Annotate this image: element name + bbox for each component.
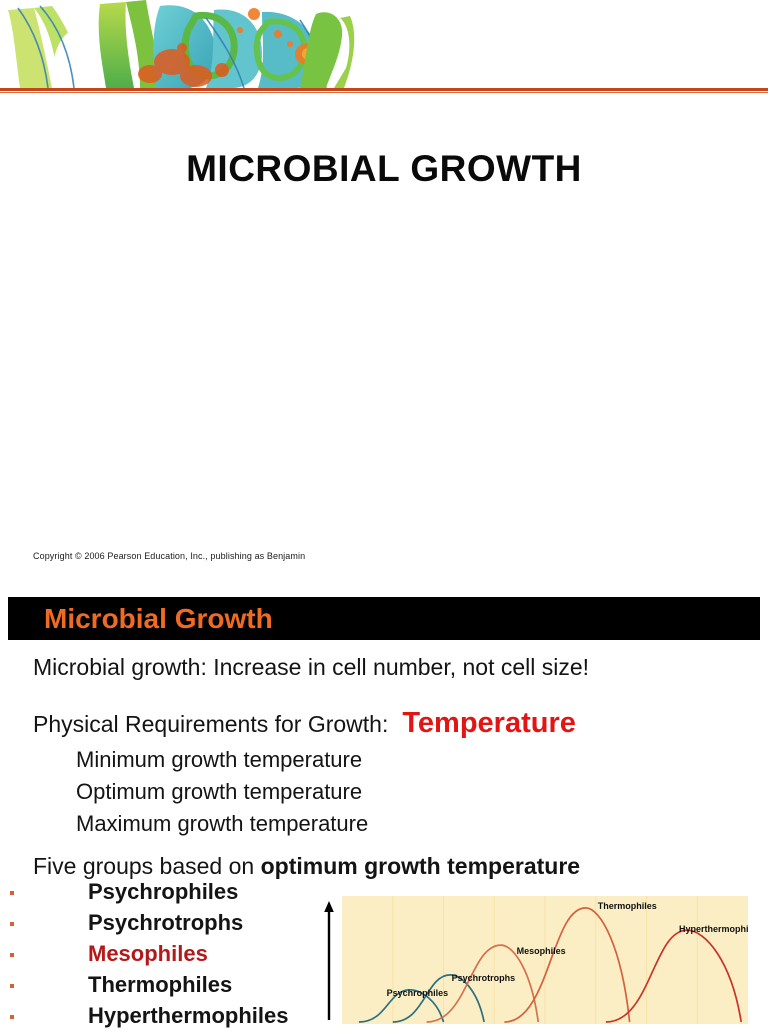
group-label-psychrotrophs: Psychrotrophs <box>88 910 243 936</box>
temperature-accent-text: Temperature <box>402 707 576 739</box>
five-groups-line: Five groups based on optimum growth temp… <box>33 853 580 880</box>
list-item: Psychrotrophs <box>0 910 340 941</box>
group-label-psychrophiles: Psychrophiles <box>88 879 238 905</box>
section-header-bar: Microbial Growth <box>8 597 760 640</box>
growth-rate-temperature-chart: PsychrophilesPsychrotrophsMesophilesTher… <box>322 896 748 1024</box>
definition-text: Microbial growth: Increase in cell numbe… <box>33 654 589 681</box>
curve-label-thermophiles: Thermophiles <box>598 901 657 911</box>
curve-label-psychrotrophs: Psychrotrophs <box>452 973 516 983</box>
group-label-mesophiles: Mesophiles <box>88 941 208 967</box>
physical-requirements-line: Physical Requirements for Growth:Tempera… <box>33 707 576 740</box>
copyright-notice: Copyright © 2006 Pearson Education, Inc.… <box>33 551 305 561</box>
curve-thermophiles <box>504 908 629 1022</box>
temperature-group-list: Psychrophiles Psychrotrophs Mesophiles T… <box>0 879 340 1034</box>
list-item: Thermophiles <box>0 972 340 1003</box>
page-title: MICROBIAL GROWTH <box>0 148 768 190</box>
header-rule-thin <box>0 92 768 93</box>
bullet-icon <box>10 891 14 895</box>
curve-label-psychrophiles: Psychrophiles <box>387 988 449 998</box>
content-slide: Microbial Growth Microbial growth: Incre… <box>0 592 768 1024</box>
bullet-icon <box>10 953 14 957</box>
list-item: Psychrophiles <box>0 879 340 910</box>
list-item: Mesophiles <box>0 941 340 972</box>
header-rule <box>0 88 768 91</box>
minimum-growth-temperature: Minimum growth temperature <box>76 747 362 773</box>
microscopy-banner-image <box>0 0 362 88</box>
bullet-icon <box>10 922 14 926</box>
curve-label-hyperthermophiles: Hyperthermophiles <box>679 924 748 934</box>
bullet-icon <box>10 1015 14 1019</box>
maximum-growth-temperature: Maximum growth temperature <box>76 811 368 837</box>
section-header-title: Microbial Growth <box>44 603 273 635</box>
group-label-hyperthermophiles: Hyperthermophiles <box>88 1003 289 1029</box>
physical-requirements-label: Physical Requirements for Growth: <box>33 711 388 737</box>
five-groups-emphasis: optimum growth temperature <box>261 853 580 879</box>
curve-hyperthermophiles <box>606 930 741 1022</box>
list-item: Hyperthermophiles <box>0 1003 340 1034</box>
chart-plot-area: PsychrophilesPsychrotrophsMesophilesTher… <box>342 896 748 1024</box>
curve-label-mesophiles: Mesophiles <box>517 946 566 956</box>
y-axis-arrow-icon <box>322 900 336 1024</box>
group-label-thermophiles: Thermophiles <box>88 972 232 998</box>
title-slide: MICROBIAL GROWTH Copyright © 2006 Pearso… <box>0 0 768 592</box>
optimum-growth-temperature: Optimum growth temperature <box>76 779 362 805</box>
five-groups-prefix: Five groups based on <box>33 853 261 879</box>
bullet-icon <box>10 984 14 988</box>
